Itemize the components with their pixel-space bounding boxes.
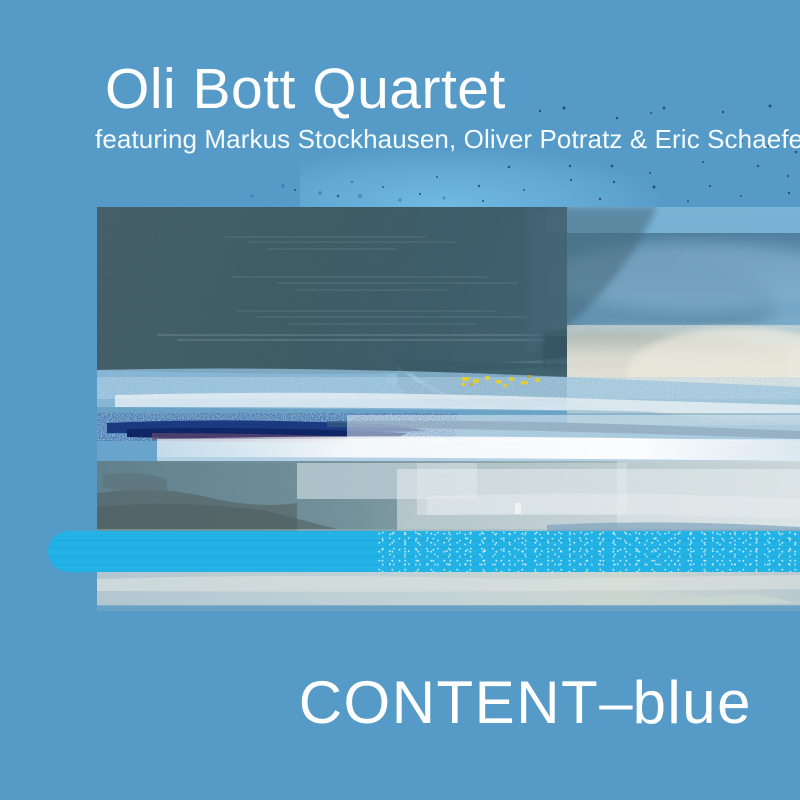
album-cover: Oli Bott Quartet featuring Markus Stockh… [0,0,800,800]
album-title-suffix: blue [633,669,752,736]
album-title-dash: – [599,669,632,736]
album-title-main: CONTENT [299,669,599,736]
featuring-credits: featuring Markus Stockhausen, Oliver Pot… [95,124,800,155]
album-title: CONTENT–blue [299,668,752,737]
cyan-brushstroke [48,531,800,572]
page-title: Oli Bott Quartet [105,60,506,120]
